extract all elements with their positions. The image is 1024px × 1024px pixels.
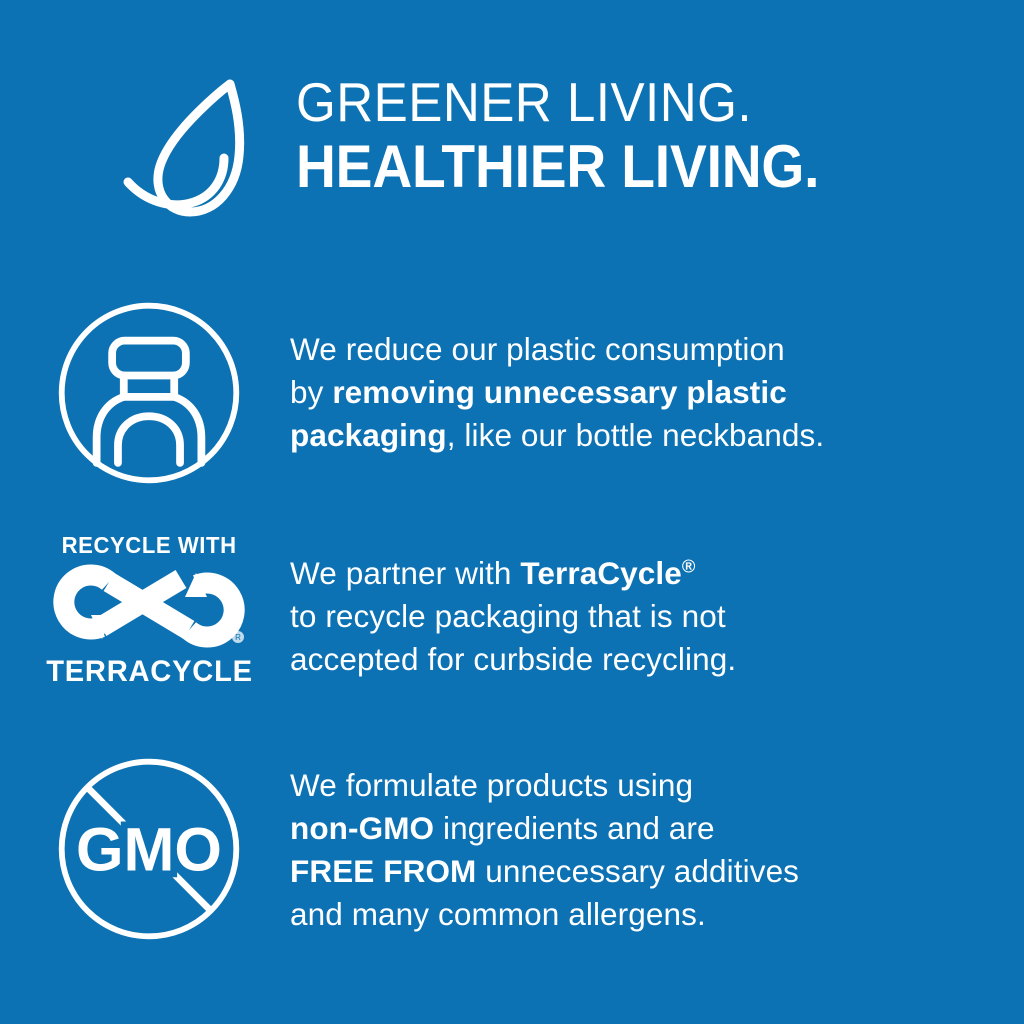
feature-icon-cell bbox=[0, 296, 290, 495]
feature-row-terracycle: RECYCLE WITH bbox=[0, 530, 1024, 720]
feature-icon-cell: GMO GMO bbox=[0, 752, 290, 951]
feature-icon-cell: RECYCLE WITH bbox=[0, 530, 290, 687]
greener-living-infographic: GREENER LIVING. HEALTHIER LIVING. bbox=[0, 0, 1024, 1024]
svg-text:R: R bbox=[235, 633, 241, 642]
feature-paragraph-non-gmo: We formulate products usingnon-GMO ingre… bbox=[290, 764, 1024, 936]
feature-text-cell: We partner with TerraCycle®to recycle pa… bbox=[290, 530, 1024, 681]
no-gmo-icon: GMO GMO bbox=[52, 752, 246, 951]
feature-row-plastic-reduction: We reduce our plastic consumptionby remo… bbox=[0, 296, 1024, 496]
bottle-neckband-icon bbox=[52, 296, 246, 495]
headline-block: GREENER LIVING. HEALTHIER LIVING. bbox=[296, 74, 865, 198]
terracycle-logo: RECYCLE WITH bbox=[45, 534, 253, 687]
leaf-icon bbox=[112, 70, 280, 230]
terracycle-top-text: RECYCLE WITH bbox=[62, 534, 237, 557]
terracycle-bottom-text: TERRACYCLE bbox=[46, 657, 253, 687]
feature-text-cell: We reduce our plastic consumptionby remo… bbox=[290, 296, 1024, 457]
infinity-recycle-arrows-icon: R bbox=[47, 563, 251, 649]
headline-line-1: GREENER LIVING. bbox=[296, 74, 825, 130]
feature-paragraph-terracycle: We partner with TerraCycle®to recycle pa… bbox=[290, 552, 1024, 681]
feature-text-cell: We formulate products usingnon-GMO ingre… bbox=[290, 752, 1024, 936]
header-banner: GREENER LIVING. HEALTHIER LIVING. bbox=[0, 62, 1024, 232]
feature-paragraph-plastic: We reduce our plastic consumptionby remo… bbox=[290, 328, 1024, 457]
headline-line-2: HEALTHIER LIVING. bbox=[296, 136, 819, 198]
feature-row-non-gmo: GMO GMO We formulate products usingnon-G… bbox=[0, 752, 1024, 962]
svg-text:GMO: GMO bbox=[76, 815, 222, 883]
